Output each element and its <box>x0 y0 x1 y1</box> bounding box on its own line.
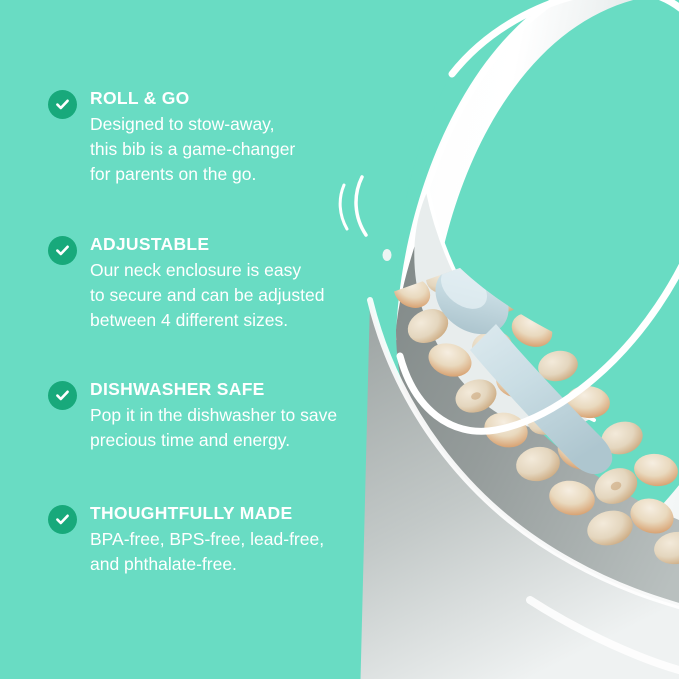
feature-title: DISHWASHER SAFE <box>90 379 337 400</box>
feature-item-thoughtfully-made: THOUGHTFULLY MADE BPA-free, BPS-free, le… <box>48 503 324 577</box>
check-circle-icon <box>48 505 77 534</box>
feature-body-line: and phthalate-free. <box>90 552 324 577</box>
feature-body-line: this bib is a game-changer <box>90 137 295 162</box>
feature-item-dishwasher-safe: DISHWASHER SAFE Pop it in the dishwasher… <box>48 379 337 453</box>
feature-item-adjustable: ADJUSTABLE Our neck enclosure is easy to… <box>48 234 324 333</box>
feature-body: BPA-free, BPS-free, lead-free, and phtha… <box>90 527 324 577</box>
check-circle-icon <box>48 90 77 119</box>
feature-body-line: BPA-free, BPS-free, lead-free, <box>90 527 324 552</box>
feature-body-line: to secure and can be adjusted <box>90 283 324 308</box>
check-circle-icon <box>48 381 77 410</box>
feature-body-line: for parents on the go. <box>90 162 295 187</box>
feature-text: ADJUSTABLE Our neck enclosure is easy to… <box>90 234 324 333</box>
feature-title: ADJUSTABLE <box>90 234 324 255</box>
vent-hole-icon <box>383 249 392 261</box>
feature-body-line: Our neck enclosure is easy <box>90 258 324 283</box>
feature-body: Designed to stow-away, this bib is a gam… <box>90 112 295 187</box>
feature-title: THOUGHTFULLY MADE <box>90 503 324 524</box>
feature-text: ROLL & GO Designed to stow-away, this bi… <box>90 88 295 187</box>
feature-text: DISHWASHER SAFE Pop it in the dishwasher… <box>90 379 337 453</box>
product-feature-infographic: ROLL & GO Designed to stow-away, this bi… <box>0 0 679 679</box>
check-circle-icon <box>48 236 77 265</box>
feature-list: ROLL & GO Designed to stow-away, this bi… <box>0 0 372 679</box>
feature-body: Our neck enclosure is easy to secure and… <box>90 258 324 333</box>
feature-text: THOUGHTFULLY MADE BPA-free, BPS-free, le… <box>90 503 324 577</box>
feature-title: ROLL & GO <box>90 88 295 109</box>
feature-body-line: Pop it in the dishwasher to save <box>90 403 337 428</box>
feature-body-line: Designed to stow-away, <box>90 112 295 137</box>
feature-body-line: precious time and energy. <box>90 428 337 453</box>
feature-body: Pop it in the dishwasher to save preciou… <box>90 403 337 453</box>
feature-item-roll-and-go: ROLL & GO Designed to stow-away, this bi… <box>48 88 295 187</box>
feature-body-line: between 4 different sizes. <box>90 308 324 333</box>
